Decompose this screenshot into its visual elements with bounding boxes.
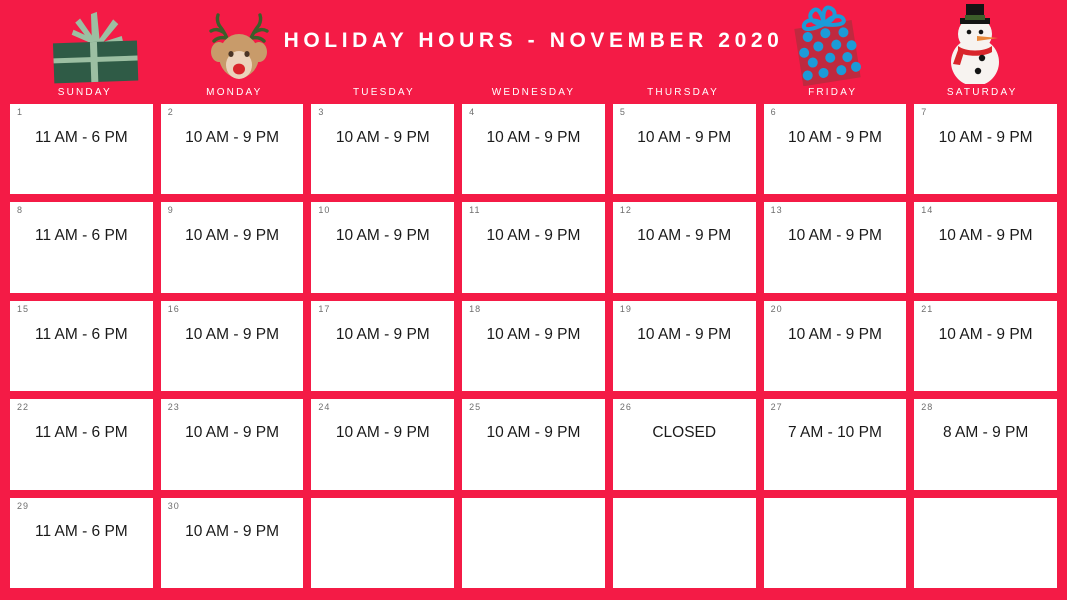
- calendar-day-cell[interactable]: 210 AM - 9 PM: [161, 104, 304, 194]
- calendar-empty-cell: [311, 498, 454, 588]
- day-number: 19: [620, 305, 632, 314]
- calendar-day-cell[interactable]: 111 AM - 6 PM: [10, 104, 153, 194]
- day-number: 14: [921, 206, 933, 215]
- calendar-day-cell[interactable]: 2410 AM - 9 PM: [311, 399, 454, 489]
- day-hours: 10 AM - 9 PM: [161, 130, 304, 146]
- dayname-wednesday: WEDNESDAY: [459, 88, 609, 98]
- day-number: 15: [17, 305, 29, 314]
- day-hours: 10 AM - 9 PM: [161, 327, 304, 343]
- day-hours: 10 AM - 9 PM: [161, 228, 304, 244]
- day-hours: 11 AM - 6 PM: [10, 524, 153, 540]
- day-number: 28: [921, 403, 933, 412]
- day-number: 16: [168, 305, 180, 314]
- day-hours: 10 AM - 9 PM: [613, 327, 756, 343]
- calendar-empty-cell: [462, 498, 605, 588]
- day-number: 3: [318, 108, 324, 117]
- calendar-day-cell[interactable]: 288 AM - 9 PM: [914, 399, 1057, 489]
- day-hours: 8 AM - 9 PM: [914, 425, 1057, 441]
- calendar-day-cell[interactable]: 1710 AM - 9 PM: [311, 301, 454, 391]
- page-title: HOLIDAY HOURS - NOVEMBER 2020: [0, 30, 1067, 51]
- dayname-sunday: SUNDAY: [10, 88, 160, 98]
- day-number: 11: [469, 206, 480, 215]
- day-number: 23: [168, 403, 180, 412]
- day-number: 6: [771, 108, 777, 117]
- day-hours: 10 AM - 9 PM: [311, 425, 454, 441]
- day-number: 26: [620, 403, 632, 412]
- calendar-day-cell[interactable]: 3010 AM - 9 PM: [161, 498, 304, 588]
- day-name-row: SUNDAY MONDAY TUESDAY WEDNESDAY THURSDAY…: [0, 88, 1067, 98]
- calendar-day-cell[interactable]: 1910 AM - 9 PM: [613, 301, 756, 391]
- calendar-day-cell[interactable]: 2911 AM - 6 PM: [10, 498, 153, 588]
- day-hours: 10 AM - 9 PM: [764, 228, 907, 244]
- day-hours: 10 AM - 9 PM: [311, 228, 454, 244]
- calendar-day-cell[interactable]: 510 AM - 9 PM: [613, 104, 756, 194]
- calendar-day-cell[interactable]: 277 AM - 10 PM: [764, 399, 907, 489]
- calendar-empty-cell: [914, 498, 1057, 588]
- day-hours: 10 AM - 9 PM: [311, 327, 454, 343]
- day-hours: 10 AM - 9 PM: [914, 130, 1057, 146]
- calendar-day-cell[interactable]: 26CLOSED: [613, 399, 756, 489]
- day-hours: 7 AM - 10 PM: [764, 425, 907, 441]
- calendar-grid: 111 AM - 6 PM210 AM - 9 PM310 AM - 9 PM4…: [0, 104, 1067, 600]
- calendar-empty-cell: [613, 498, 756, 588]
- dayname-saturday: SATURDAY: [907, 88, 1057, 98]
- day-hours: 11 AM - 6 PM: [10, 130, 153, 146]
- day-number: 17: [318, 305, 330, 314]
- calendar-day-cell[interactable]: 310 AM - 9 PM: [311, 104, 454, 194]
- calendar-day-cell[interactable]: 2510 AM - 9 PM: [462, 399, 605, 489]
- day-number: 5: [620, 108, 626, 117]
- calendar-day-cell[interactable]: 1110 AM - 9 PM: [462, 202, 605, 292]
- calendar-day-cell[interactable]: 1310 AM - 9 PM: [764, 202, 907, 292]
- day-number: 12: [620, 206, 632, 215]
- day-number: 25: [469, 403, 481, 412]
- calendar-empty-cell: [764, 498, 907, 588]
- day-hours: CLOSED: [613, 425, 756, 441]
- day-number: 27: [771, 403, 783, 412]
- calendar-day-cell[interactable]: 2211 AM - 6 PM: [10, 399, 153, 489]
- calendar-day-cell[interactable]: 2110 AM - 9 PM: [914, 301, 1057, 391]
- calendar-day-cell[interactable]: 1810 AM - 9 PM: [462, 301, 605, 391]
- day-hours: 10 AM - 9 PM: [462, 327, 605, 343]
- calendar-day-cell[interactable]: 1610 AM - 9 PM: [161, 301, 304, 391]
- calendar-day-cell[interactable]: 1410 AM - 9 PM: [914, 202, 1057, 292]
- day-hours: 10 AM - 9 PM: [764, 130, 907, 146]
- calendar-day-cell[interactable]: 1511 AM - 6 PM: [10, 301, 153, 391]
- day-number: 8: [17, 206, 23, 215]
- holiday-hours-calendar: HOLIDAY HOURS - NOVEMBER 2020 SUNDAY MON…: [0, 0, 1067, 600]
- day-number: 24: [318, 403, 330, 412]
- day-number: 22: [17, 403, 29, 412]
- day-hours: 10 AM - 9 PM: [462, 425, 605, 441]
- day-hours: 11 AM - 6 PM: [10, 327, 153, 343]
- day-hours: 10 AM - 9 PM: [462, 228, 605, 244]
- calendar-day-cell[interactable]: 2010 AM - 9 PM: [764, 301, 907, 391]
- day-number: 20: [771, 305, 783, 314]
- day-hours: 10 AM - 9 PM: [764, 327, 907, 343]
- day-number: 7: [921, 108, 927, 117]
- calendar-day-cell[interactable]: 1210 AM - 9 PM: [613, 202, 756, 292]
- day-hours: 10 AM - 9 PM: [311, 130, 454, 146]
- day-number: 10: [318, 206, 330, 215]
- calendar-day-cell[interactable]: 410 AM - 9 PM: [462, 104, 605, 194]
- day-number: 21: [921, 305, 933, 314]
- day-number: 18: [469, 305, 481, 314]
- day-hours: 10 AM - 9 PM: [613, 228, 756, 244]
- day-hours: 10 AM - 9 PM: [613, 130, 756, 146]
- day-number: 29: [17, 502, 29, 511]
- day-number: 9: [168, 206, 174, 215]
- calendar-day-cell[interactable]: 2310 AM - 9 PM: [161, 399, 304, 489]
- day-hours: 11 AM - 6 PM: [10, 228, 153, 244]
- calendar-day-cell[interactable]: 610 AM - 9 PM: [764, 104, 907, 194]
- day-number: 4: [469, 108, 475, 117]
- dayname-monday: MONDAY: [160, 88, 310, 98]
- calendar-day-cell[interactable]: 811 AM - 6 PM: [10, 202, 153, 292]
- dayname-tuesday: TUESDAY: [309, 88, 459, 98]
- day-number: 1: [17, 108, 23, 117]
- calendar-day-cell[interactable]: 910 AM - 9 PM: [161, 202, 304, 292]
- day-hours: 10 AM - 9 PM: [914, 327, 1057, 343]
- day-number: 2: [168, 108, 174, 117]
- calendar-header: HOLIDAY HOURS - NOVEMBER 2020 SUNDAY MON…: [0, 0, 1067, 104]
- calendar-day-cell[interactable]: 1010 AM - 9 PM: [311, 202, 454, 292]
- dayname-thursday: THURSDAY: [608, 88, 758, 98]
- dayname-friday: FRIDAY: [758, 88, 908, 98]
- day-hours: 10 AM - 9 PM: [161, 524, 304, 540]
- day-number: 13: [771, 206, 783, 215]
- day-number: 30: [168, 502, 180, 511]
- day-hours: 11 AM - 6 PM: [10, 425, 153, 441]
- day-hours: 10 AM - 9 PM: [462, 130, 605, 146]
- day-hours: 10 AM - 9 PM: [161, 425, 304, 441]
- day-hours: 10 AM - 9 PM: [914, 228, 1057, 244]
- calendar-day-cell[interactable]: 710 AM - 9 PM: [914, 104, 1057, 194]
